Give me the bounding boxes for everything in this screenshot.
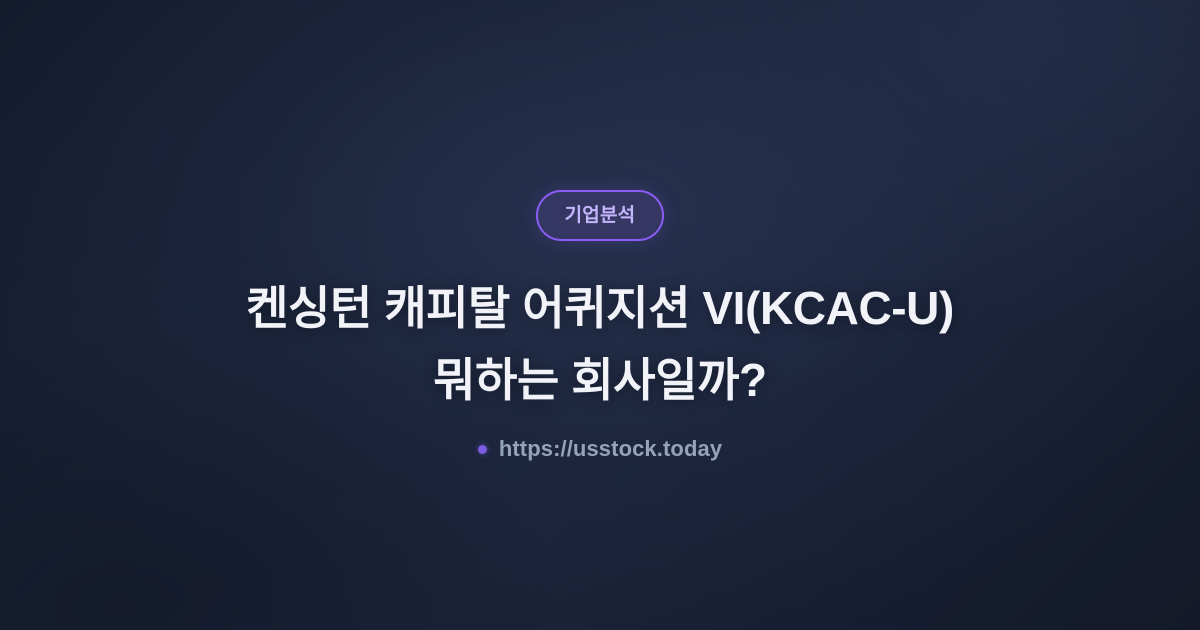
page-title-line-2: 뭐하는 회사일까? bbox=[246, 344, 954, 416]
site-url-text: https://usstock.today bbox=[499, 438, 722, 460]
share-card: 기업분석 켄싱턴 캐피탈 어퀴지션 VI(KCAC-U) 뭐하는 회사일까? h… bbox=[0, 0, 1200, 630]
page-title: 켄싱턴 캐피탈 어퀴지션 VI(KCAC-U) 뭐하는 회사일까? bbox=[246, 272, 954, 416]
dot-icon bbox=[478, 445, 487, 454]
site-url-row: https://usstock.today bbox=[478, 438, 722, 460]
category-badge: 기업분석 bbox=[536, 190, 665, 241]
card-content: 기업분석 켄싱턴 캐피탈 어퀴지션 VI(KCAC-U) 뭐하는 회사일까? h… bbox=[0, 0, 1200, 630]
page-title-line-1: 켄싱턴 캐피탈 어퀴지션 VI(KCAC-U) bbox=[246, 272, 954, 344]
